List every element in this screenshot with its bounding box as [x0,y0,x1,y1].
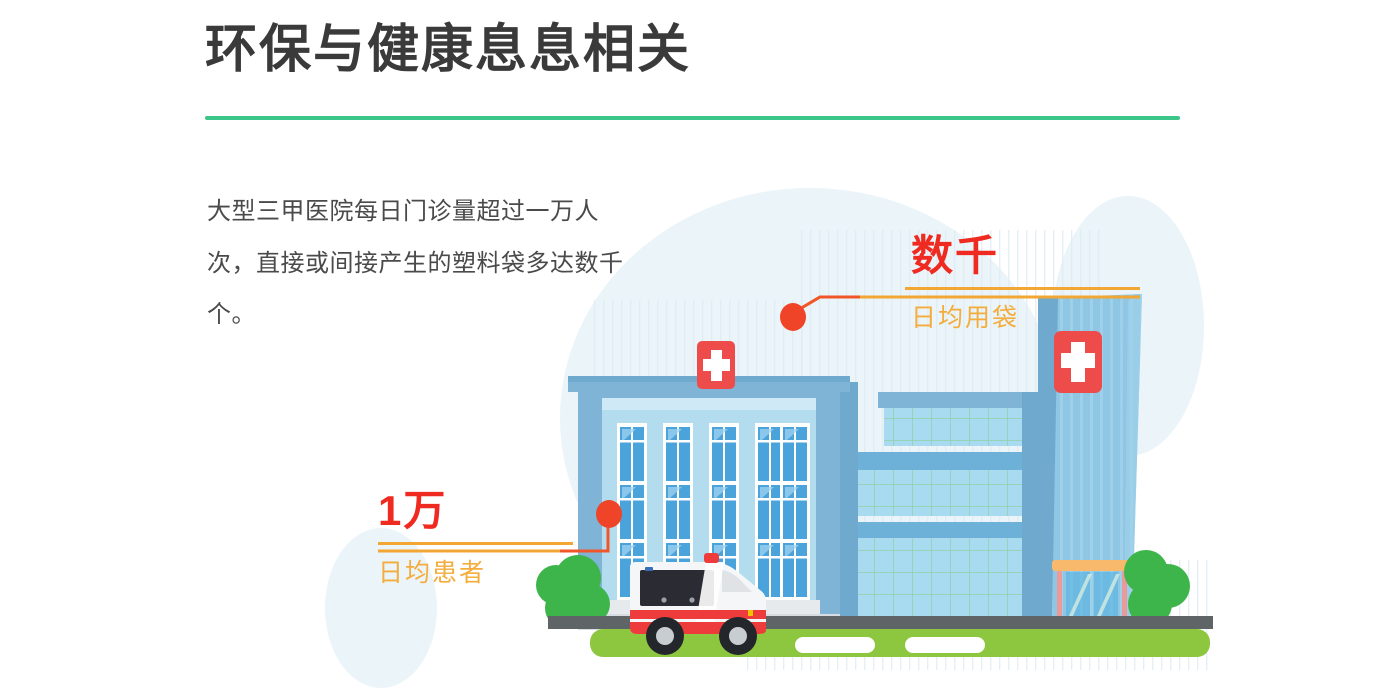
red-cross-sign-tower [1054,331,1102,393]
tower-entrance-canopy [1052,560,1132,571]
callout-bags-label: 日均用袋 [911,298,1140,334]
callout-bags-rule [905,287,1140,290]
slide-canvas: 环保与健康息息相关 大型三甲医院每日门诊量超过一万人次，直接或间接产生的塑料袋多… [0,0,1400,700]
hospital-campus-illustration [0,0,1400,700]
callout-patients-dot-icon [596,500,622,528]
callout-daily-bags: 数千 日均用袋 [905,235,1140,334]
callout-patients-value: 1万 [378,490,573,532]
callout-patients-rule [378,542,573,545]
red-cross-sign-roof [697,341,735,389]
callout-patients-label: 日均患者 [378,553,573,589]
callout-daily-patients: 1万 日均患者 [378,490,573,589]
callout-bags-dot-icon [780,303,806,331]
window-row [617,423,810,485]
callout-bags-value: 数千 [911,235,1140,277]
window-row [617,481,810,543]
